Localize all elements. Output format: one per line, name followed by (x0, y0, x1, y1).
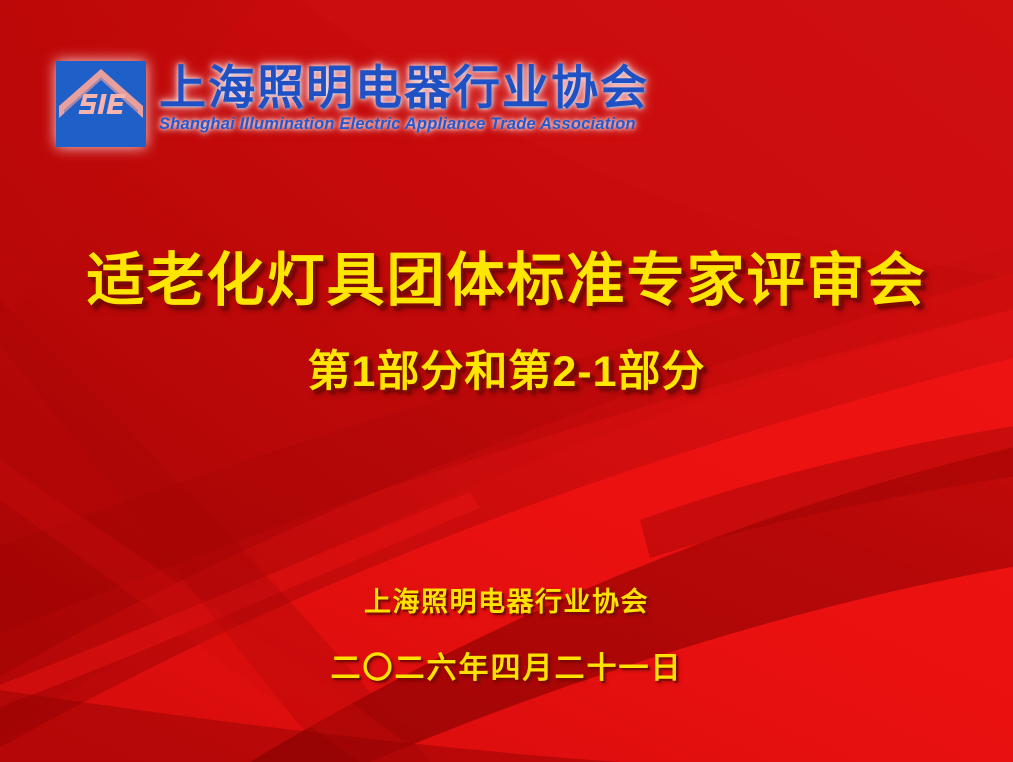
footer-block: 上海照明电器行业协会 二〇二六年四月二十一日 (0, 585, 1013, 688)
event-date: 二〇二六年四月二十一日 (0, 650, 1013, 688)
page-subtitle: 第1部分和第2-1部分 (0, 347, 1013, 397)
headline-block: 适老化灯具团体标准专家评审会 第1部分和第2-1部分 (0, 248, 1013, 397)
page-title: 适老化灯具团体标准专家评审会 (0, 248, 1013, 314)
association-logo-lockup: 上海照明电器行业协会 Shanghai Illumination Electri… (55, 60, 649, 148)
title-slide: 上海照明电器行业协会 Shanghai Illumination Electri… (0, 0, 1013, 762)
organization-name: 上海照明电器行业协会 (0, 585, 1013, 619)
logo-name-chinese: 上海照明电器行业协会 (159, 62, 649, 114)
sie-association-roof-emblem-icon (55, 60, 147, 148)
association-logo-text: 上海照明电器行业协会 Shanghai Illumination Electri… (159, 60, 649, 134)
logo-name-english: Shanghai Illumination Electric Appliance… (159, 115, 649, 134)
